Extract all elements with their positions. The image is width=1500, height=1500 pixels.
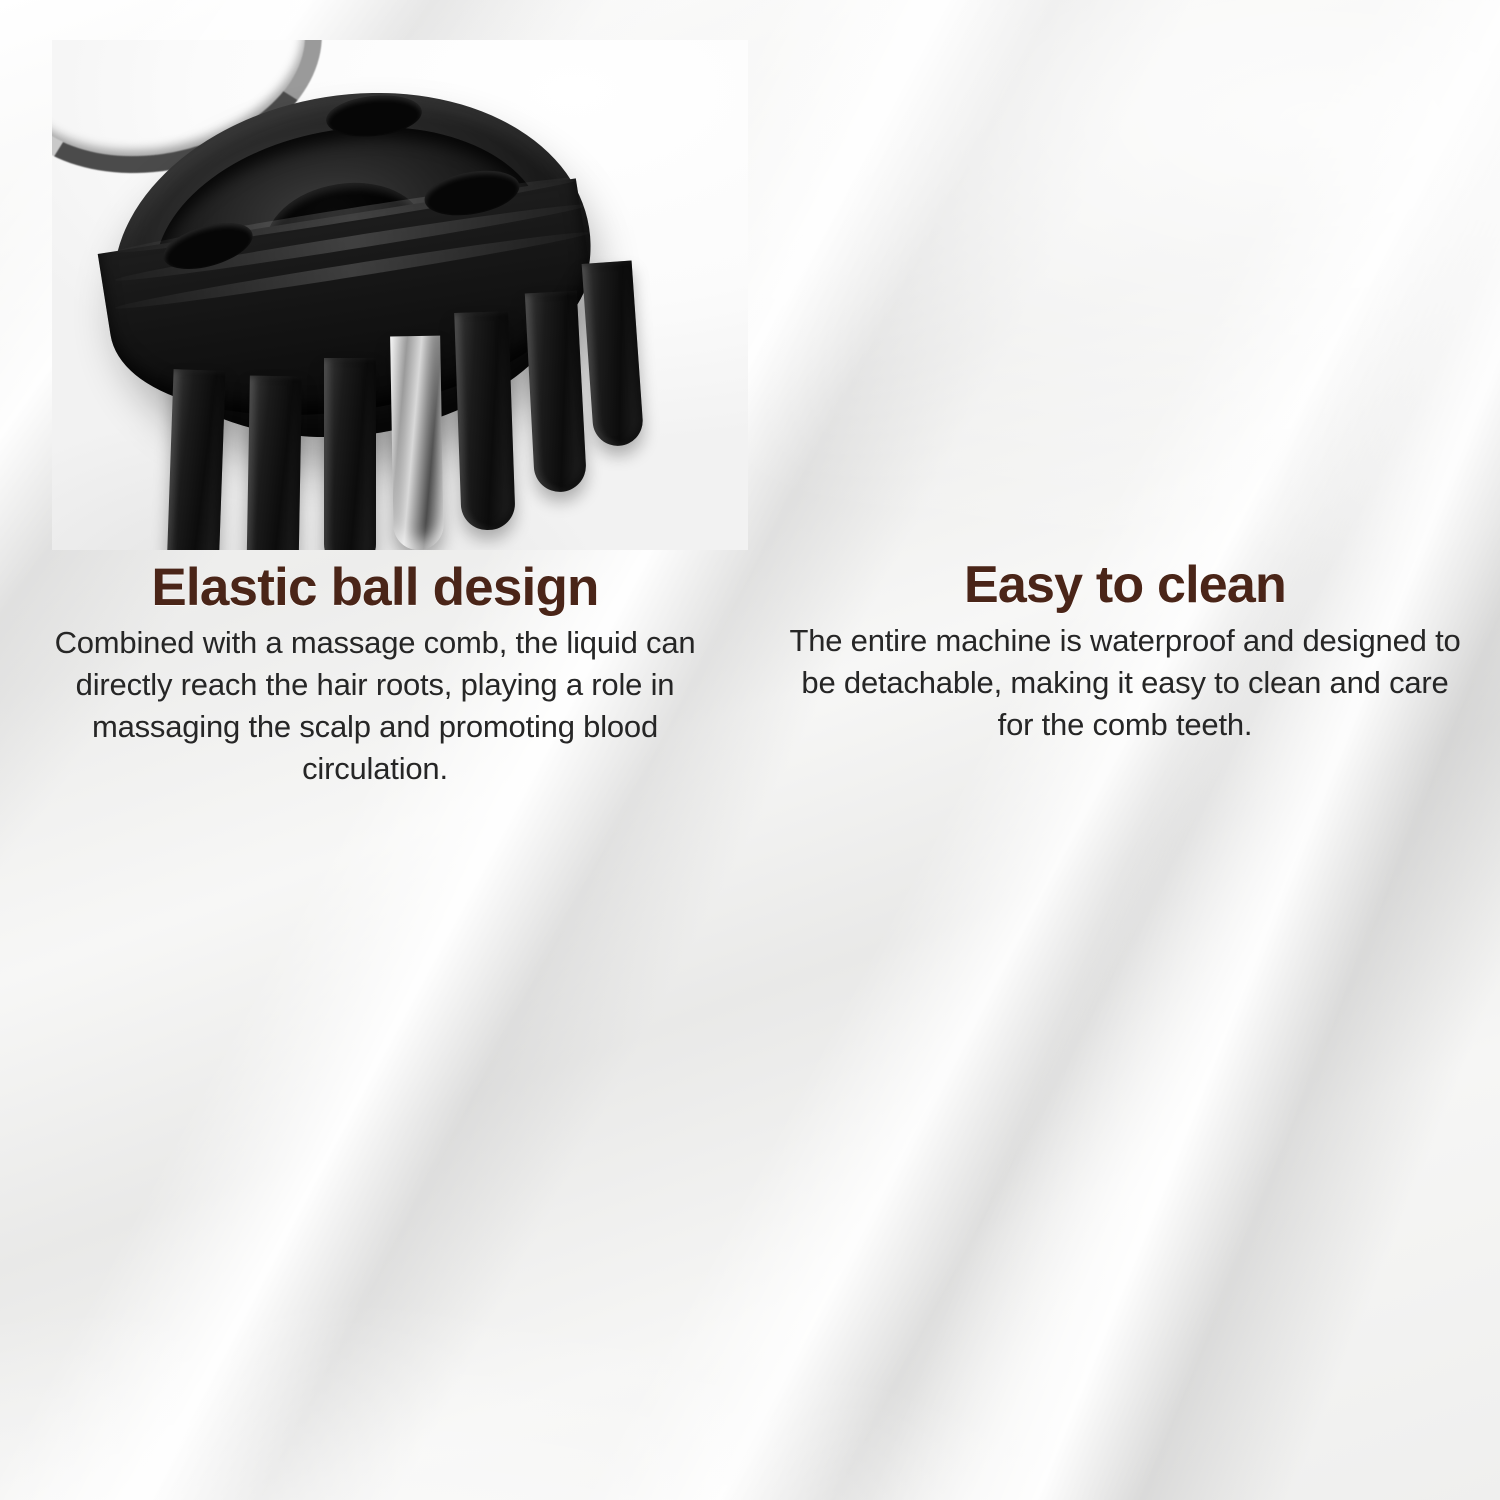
panel-body-text: The entire machine is waterproof and des…	[750, 620, 1500, 746]
feature-panel-small-and-lightweight: Small and lightweight Weighing only 32 g…	[750, 750, 1500, 1500]
panel-heading: Easy to clean	[750, 558, 1500, 613]
comb-prong	[454, 311, 516, 531]
comb-prong	[166, 369, 225, 550]
comb-prong	[246, 376, 302, 550]
feature-grid: Elastic ball design Combined with a mass…	[0, 0, 1500, 1500]
panel-heading: Elastic ball design	[0, 560, 750, 616]
comb-prong	[324, 358, 376, 550]
product-image-comb-head	[52, 40, 748, 550]
feature-panel-easy-to-clean: Easy to clean The entire machine is wate…	[750, 0, 1500, 750]
comb-prong	[525, 291, 587, 493]
comb-prong	[582, 260, 645, 447]
comb-prong-chrome-tip	[390, 336, 444, 550]
feature-panel-pushable-design: 1 3 5 7 Pushable design The scale is cle…	[0, 750, 750, 1500]
feature-panel-elastic-ball-design: Elastic ball design Combined with a mass…	[0, 0, 750, 750]
